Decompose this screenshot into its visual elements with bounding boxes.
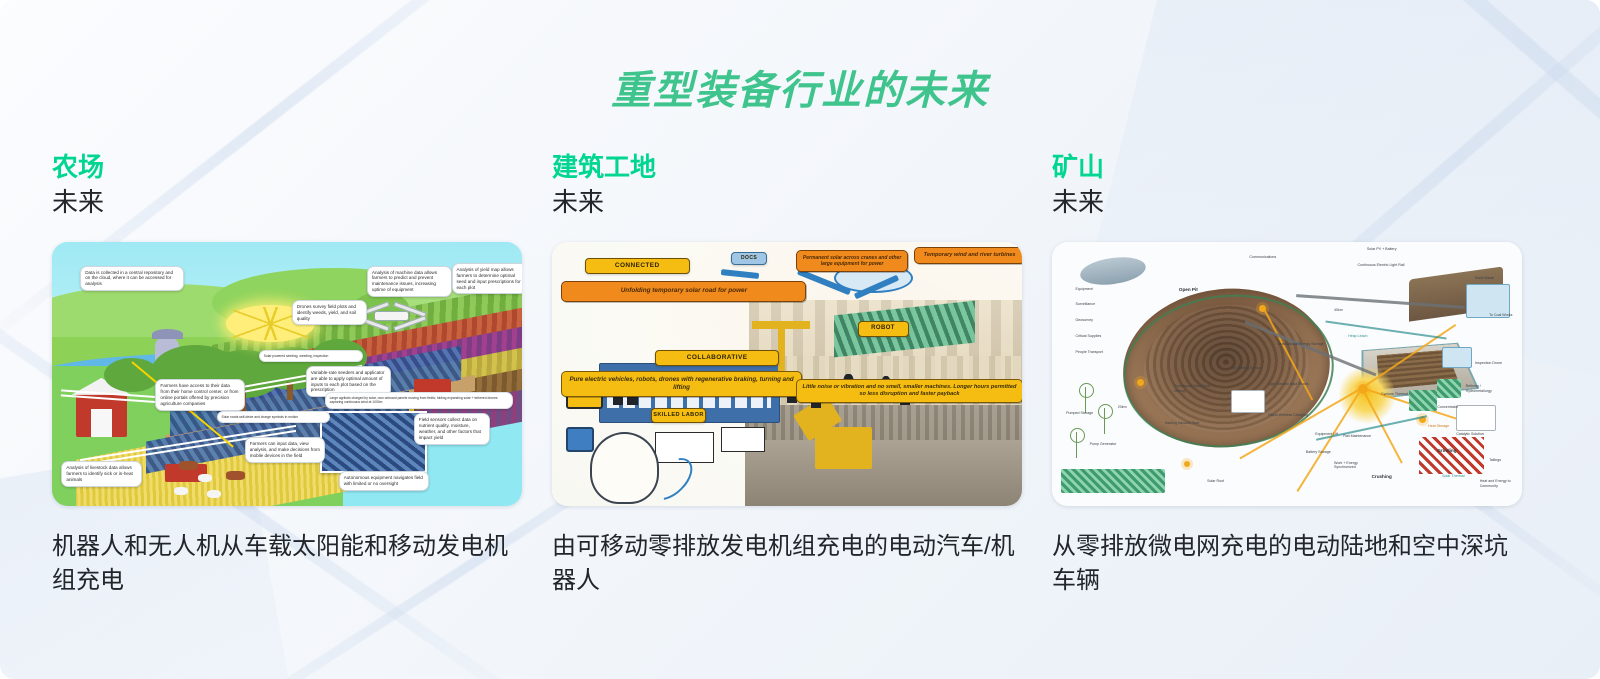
construction-callout-solar-road: Unfolding temporary solar road for power bbox=[561, 281, 806, 301]
mine-label-pumped-storage: Pumped Storage bbox=[1066, 411, 1108, 415]
construction-caption: 由可移动零排放发电机组充电的电动汽车/机器人 bbox=[552, 530, 1018, 598]
mine-label-communications: Communications bbox=[1249, 255, 1305, 259]
mine-label-heat-community: Heat and Energy to Community bbox=[1480, 479, 1518, 488]
mine-label-concentrator: Concentrator bbox=[1437, 405, 1475, 409]
mine-label-wireless-charging: Rapid Wireless Charging bbox=[1268, 413, 1310, 417]
mine-label-solar-roof: Solar Roof bbox=[1207, 479, 1245, 483]
construction-callout-electric-vehicles: Pure electric vehicles, robots, drones w… bbox=[561, 371, 801, 397]
mine-rail-ring bbox=[1115, 284, 1341, 457]
mine-label-light-rail: Continuous Electric Light Rail bbox=[1358, 263, 1419, 267]
mine-blue-facility-2 bbox=[1442, 347, 1472, 367]
farm-callout-drone-survey: Drones survey field plots and identify w… bbox=[292, 300, 368, 326]
mine-label-hard-rock: Continuous Hard Rock Mining bbox=[1174, 384, 1216, 393]
mine-green-field bbox=[1061, 469, 1164, 493]
farm-callout-data-repository: Data is collected in a central repositor… bbox=[80, 266, 184, 292]
mine-label-cyclone-thermal: Cyclone Thermal bbox=[1381, 392, 1419, 396]
column-mine: 矿山 未来 bbox=[1052, 152, 1522, 598]
mine-label-equipment: Equipment bbox=[1076, 287, 1093, 291]
column-construction: 建筑工地 未来 bbox=[552, 152, 1022, 598]
farm-callout-agribots: Large agribots charged by solar, own onb… bbox=[325, 392, 514, 408]
drone-body bbox=[374, 311, 409, 321]
farm-callout-mobile-devices: Farmers can input data, view analysis, a… bbox=[245, 437, 326, 463]
mine-label-catalytic: Catalytic Solution bbox=[1456, 432, 1494, 436]
mine-label-refining: Refining / Hydrometallurgy bbox=[1466, 384, 1508, 393]
construction-tag-collaborative: COLLABORATIVE bbox=[655, 350, 779, 366]
construction-street-photo bbox=[745, 405, 1022, 505]
mine-label-grav-storage: Gravitational Energy Storage bbox=[1278, 342, 1334, 346]
mine-label-distance-40km: 40km bbox=[1334, 308, 1343, 312]
mine-label-coal-works: To Coal Works bbox=[1489, 313, 1522, 317]
mine-label-distance-20km: 20km bbox=[1118, 405, 1127, 409]
mine-label-inspection-drone: Inspection Drone bbox=[1475, 361, 1513, 365]
construction-tag-docs: DOCS bbox=[731, 252, 768, 264]
mine-caption: 从零排放微电网充电的电动陆地和空中深坑车辆 bbox=[1052, 530, 1518, 598]
mine-label-ore-sorting: Ore Sorting Sensor bbox=[1231, 366, 1264, 370]
farm-sheep-1 bbox=[198, 474, 212, 482]
farm-solar-array-photo-inset bbox=[320, 411, 427, 473]
farm-cow-2 bbox=[226, 471, 245, 480]
mine-label-haul-trucks: Light Electric Haul Trucks bbox=[1268, 382, 1310, 386]
farm-callout-autonomous: Autonomous equipment navigates field wit… bbox=[339, 471, 429, 491]
mine-label-surveillance: Surveillance bbox=[1076, 302, 1096, 306]
mine-label-solar-thermal: Solar Thermal bbox=[1442, 474, 1480, 478]
farm-cow-1 bbox=[179, 461, 198, 470]
mine-label-equipment-lift: Equipment Lift bbox=[1315, 432, 1353, 436]
mine-sensor-box bbox=[1231, 390, 1266, 413]
construction-site-future-illustration[interactable]: CONNECTED COLLABORATIVE ROBOT SKILLED LA… bbox=[552, 242, 1022, 506]
farm-callout-solar-roads: Solar roads self-deice and charge symbol… bbox=[217, 411, 330, 423]
farm-callout-livestock: Analysis of livestock data allows farmer… bbox=[61, 461, 142, 487]
construction-tag-skilled-labor: SKILLED LABOR bbox=[651, 408, 707, 423]
mine-label-tailings: Tailings bbox=[1489, 458, 1517, 462]
mine-node-west bbox=[1137, 379, 1144, 386]
wind-turbine-icon-3 bbox=[1076, 432, 1077, 458]
mine-label-work-energy: Work + Energy Synchronized bbox=[1334, 461, 1376, 470]
mine-future-illustration[interactable]: Open Pit Equipment Surveillance Geosurve… bbox=[1052, 242, 1522, 506]
construction-tag-robot: ROBOT bbox=[858, 321, 909, 337]
farm-callout-solar-seeding: Solar powered seeding, weeding, inspecti… bbox=[259, 350, 363, 362]
farm-callout-field-sensors: Field sensors collect data on nutrient q… bbox=[414, 413, 490, 445]
farm-future-illustration[interactable]: Data is collected in a central repositor… bbox=[52, 242, 522, 506]
farm-callout-yield-map: Analysis of yield map allows farmers to … bbox=[452, 263, 523, 295]
farm-trunk-3 bbox=[287, 382, 293, 400]
column-farm-subheading: 未来 bbox=[52, 185, 522, 220]
mine-label-grinding: Grinding bbox=[1437, 448, 1456, 454]
farm-sheep-2 bbox=[174, 487, 188, 495]
farm-callout-machine-data: Analysis of machine data allows farmers … bbox=[367, 266, 452, 298]
column-construction-heading: 建筑工地 bbox=[552, 152, 1022, 183]
mine-label-open-pit: Open Pit bbox=[1179, 287, 1198, 293]
farm-scene: Data is collected in a central repositor… bbox=[52, 242, 522, 506]
column-mine-subheading: 未来 bbox=[1052, 185, 1522, 220]
worker-head-icon bbox=[590, 432, 660, 505]
info-icon bbox=[566, 427, 594, 452]
mine-label-supplies: Critical Supplies bbox=[1076, 334, 1102, 338]
slide-root: 重型装备行业的未来 农场 未来 bbox=[0, 0, 1600, 679]
mine-scene: Open Pit Equipment Surveillance Geosurve… bbox=[1052, 242, 1522, 506]
construction-callout-little-noise: Little noise or vibration and no smell, … bbox=[796, 379, 1022, 403]
mine-label-crushing: Crushing bbox=[1372, 474, 1392, 480]
mine-label-battery-storage: Battery Storage bbox=[1306, 450, 1344, 454]
slide-title: 重型装备行业的未来 bbox=[0, 58, 1600, 116]
column-farm: 农场 未来 bbox=[52, 152, 522, 598]
farm-barn bbox=[76, 392, 128, 437]
mine-pipe-1 bbox=[1325, 320, 1446, 339]
construction-truck-2 bbox=[721, 427, 765, 453]
mine-solar-thermal-array bbox=[1419, 437, 1485, 474]
construction-callout-permanent-solar: Permanent solar across cranes and other … bbox=[796, 250, 907, 273]
construction-scene: CONNECTED COLLABORATIVE ROBOT SKILLED LA… bbox=[552, 242, 1022, 506]
mine-label-heap-leach: Heap Leach bbox=[1348, 334, 1381, 338]
mine-label-vacuum-tech: Hauling Vacuum Tech bbox=[1165, 421, 1207, 425]
column-construction-subheading: 未来 bbox=[552, 185, 1022, 220]
mine-label-heat-storage: Heat Storage bbox=[1428, 424, 1461, 428]
farm-caption: 机器人和无人机从车载太阳能和移动发电机组充电 bbox=[52, 530, 518, 598]
farm-sheep-3 bbox=[207, 490, 221, 498]
mine-green-plant-2 bbox=[1437, 379, 1461, 397]
airship-icon bbox=[1079, 253, 1148, 288]
mine-label-solid-waste: Solid Waste bbox=[1475, 276, 1494, 280]
farm-callout-home-control: Farmers have access to their data from t… bbox=[155, 379, 245, 411]
mine-label-pump-generator: Pump Generator bbox=[1090, 442, 1132, 446]
mine-node-south bbox=[1184, 461, 1190, 467]
construction-excavator bbox=[815, 427, 871, 469]
column-farm-heading: 农场 bbox=[52, 152, 522, 183]
mine-label-geosurvey: Geosurvey bbox=[1076, 318, 1093, 322]
mine-label-solar-pv: Solar PV + Battery bbox=[1367, 247, 1409, 251]
wind-turbine-icon-1 bbox=[1085, 387, 1086, 413]
construction-tag-connected: CONNECTED bbox=[585, 258, 690, 274]
construction-callout-wind-turbines: Temporary wind and river turbines bbox=[914, 247, 1022, 264]
mine-label-people: People Transport bbox=[1076, 350, 1103, 354]
column-mine-heading: 矿山 bbox=[1052, 152, 1522, 183]
